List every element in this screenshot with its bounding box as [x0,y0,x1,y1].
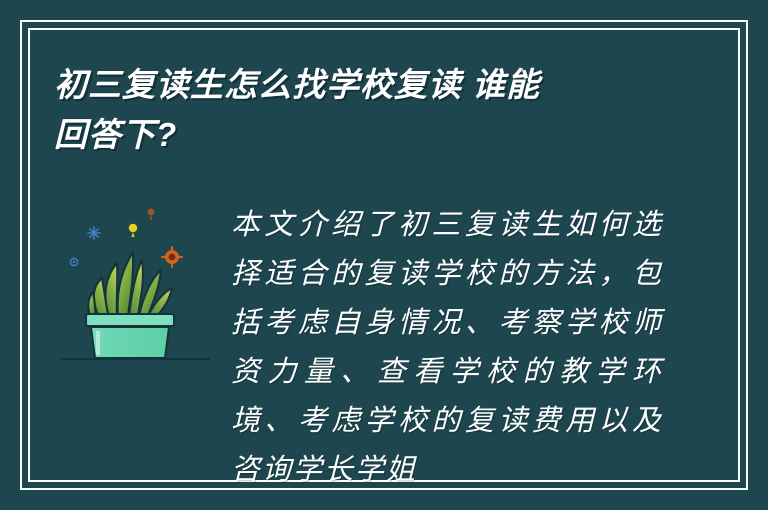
poster-canvas: 初三复读生怎么找学校复读 谁能 回答下? [0,0,768,510]
blue-dot-sparkle [70,258,77,265]
yellow-bud-sparkle [129,224,137,237]
poster-title: 初三复读生怎么找学校复读 谁能 回答下? [54,60,684,160]
pot-highlight [96,331,100,355]
pot-body [91,327,169,358]
brown-bud-sparkle [148,209,155,220]
snowflake-sparkle [88,227,100,239]
plant-leaves [88,252,172,316]
plant-illustration [60,190,210,370]
orange-flower-sparkle [162,247,182,267]
pot-rim [86,314,174,326]
poster-body-text: 本文介绍了初三复读生如何选择适合的复读学校的方法，包括考虑自身情况、考察学校师资… [231,200,663,494]
